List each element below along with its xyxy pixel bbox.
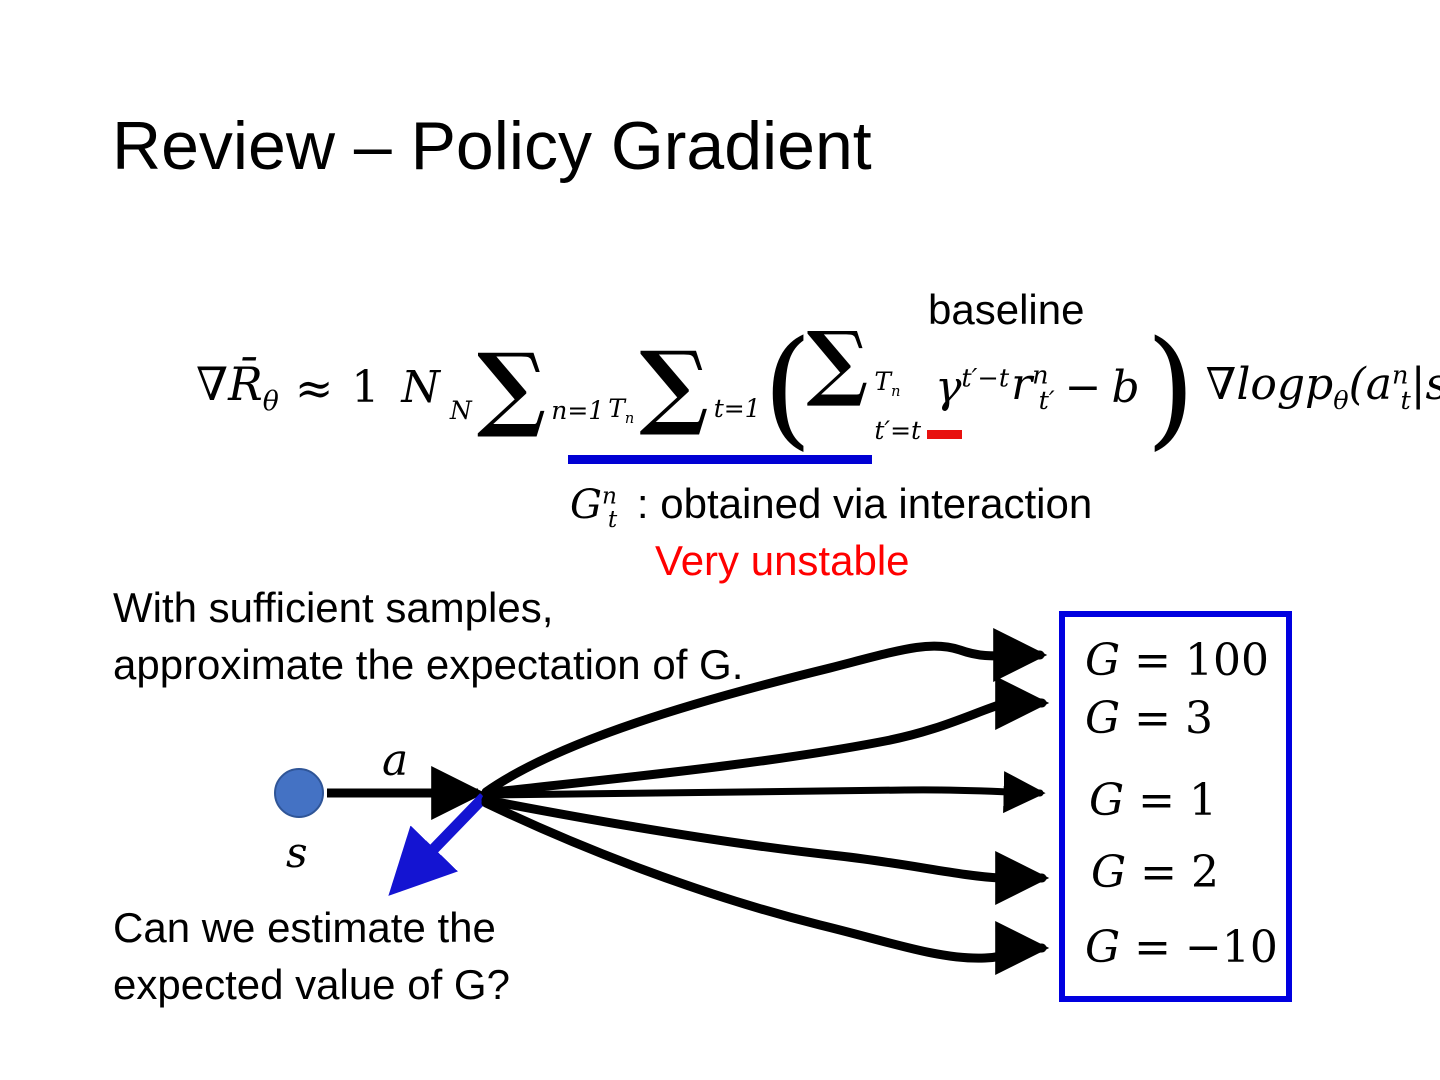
- baseline-annotation: baseline: [928, 286, 1084, 334]
- action-label: a: [382, 735, 408, 786]
- formula-lhs: ∇R̄θ: [196, 357, 279, 417]
- outcome-item: G = 2: [1091, 847, 1219, 898]
- approx-sign: ≈: [295, 361, 334, 415]
- policy-open: (a: [1349, 359, 1392, 410]
- return-blue-underline: [568, 455, 872, 464]
- fraction-denominator: N: [397, 360, 444, 413]
- estimate-question-line1: Can we estimate the: [113, 900, 510, 957]
- sample-arrow-4: [486, 800, 1042, 878]
- alternative-action-arrow: [396, 797, 484, 888]
- lhs-symbol: ∇R̄: [196, 357, 263, 411]
- outcome-value: 1: [1189, 775, 1217, 826]
- return-definition-note: Gnt : obtained via interaction: [570, 480, 1092, 533]
- fraction-numerator: 1: [347, 362, 383, 415]
- outcome-item: G = 100: [1085, 635, 1269, 686]
- outcome-value: 100: [1185, 635, 1269, 686]
- minus-sign: −: [1065, 362, 1102, 413]
- outcome-value: 2: [1191, 847, 1219, 898]
- sample-arrow-5: [486, 803, 1042, 958]
- sum-n-lower: n=1: [551, 396, 604, 425]
- given-state: |s: [1411, 359, 1440, 410]
- inner-sum-upper-main: T: [874, 367, 891, 396]
- grad-logp-symbol: ∇logp: [1206, 359, 1334, 410]
- sum-t-upper-sub: n: [625, 411, 634, 427]
- action-subscript: t: [1400, 386, 1410, 416]
- outcome-values-box: G = 100 G = 3 G = 1 G = 2 G = −10: [1059, 611, 1292, 1002]
- gamma-symbol: γ: [935, 362, 961, 413]
- g-subscript: t: [608, 506, 617, 533]
- inner-sum-limits: Tn t′=t: [873, 367, 921, 445]
- outcome-symbol: G: [1089, 775, 1124, 826]
- g-symbol: G: [570, 482, 602, 528]
- outcome-equals: =: [1134, 922, 1171, 973]
- reward-subscript: t′: [1039, 386, 1055, 416]
- outcome-equals: =: [1134, 635, 1171, 686]
- outcome-equals: =: [1138, 775, 1175, 826]
- sufficient-samples-line1: With sufficient samples,: [113, 580, 743, 637]
- discount-term: γt′−t: [935, 362, 1009, 413]
- inner-sum-over-tprime: ∑ Tn t′=t: [807, 330, 922, 445]
- outcome-item: G = −10: [1085, 922, 1278, 973]
- outcome-equals: =: [1134, 693, 1171, 744]
- outcome-value: 3: [1185, 693, 1213, 744]
- sigma-glyph: ∑: [639, 331, 708, 439]
- sum-t-upper: Tn: [608, 394, 634, 423]
- reward-term: rnt′: [1011, 359, 1055, 416]
- page-title: Review – Policy Gradient: [112, 112, 872, 180]
- sum-t-lower: t=1: [714, 394, 761, 423]
- grad-log-policy: ∇logpθ(ant|snt): [1206, 359, 1440, 416]
- sum-n-upper: N: [450, 396, 472, 425]
- sufficient-samples-text: With sufficient samples, approximate the…: [113, 580, 743, 693]
- sigma-glyph: ∑: [807, 314, 869, 410]
- sample-arrow-3: [486, 790, 1040, 795]
- return-definition-text: : obtained via interaction: [637, 480, 1092, 527]
- sum-over-n: N ∑ n=1: [450, 350, 604, 425]
- sample-arrow-2: [486, 700, 1042, 793]
- reward-symbol: r: [1011, 359, 1032, 410]
- lhs-subscript: θ: [263, 387, 279, 418]
- gamma-exponent: t′−t: [961, 363, 1009, 393]
- one-over-n-fraction: 1 N: [347, 366, 444, 410]
- policy-gradient-formula: ∇R̄θ ≈ 1 N N ∑ n=1 Tn ∑ t=1 ( ∑ Tn t′=t: [196, 330, 1440, 445]
- outcome-symbol: G: [1085, 922, 1120, 973]
- outcome-symbol: G: [1085, 693, 1120, 744]
- sum-t-upper-main: T: [608, 394, 625, 423]
- inner-sum-lower: t′=t: [874, 416, 921, 445]
- state-node-circle: [274, 768, 324, 818]
- return-symbol: Gnt: [570, 482, 617, 528]
- open-paren: (: [763, 343, 813, 435]
- sigma-glyph: ∑: [477, 333, 546, 441]
- close-paren: ): [1146, 343, 1196, 435]
- very-unstable-warning: Very unstable: [655, 537, 910, 585]
- estimate-question-line2: expected value of G?: [113, 957, 510, 1014]
- slide-canvas: Review – Policy Gradient ∇R̄θ ≈ 1 N N ∑ …: [0, 0, 1440, 1080]
- outcome-symbol: G: [1091, 847, 1126, 898]
- outcome-item: G = 1: [1089, 775, 1217, 826]
- outcome-symbol: G: [1085, 635, 1120, 686]
- sufficient-samples-line2: approximate the expectation of G.: [113, 637, 743, 694]
- inner-sum-upper-sub: n: [891, 384, 900, 400]
- grad-logp-subscript: θ: [1333, 386, 1348, 416]
- estimate-question-text: Can we estimate the expected value of G?: [113, 900, 510, 1013]
- outcome-equals: =: [1140, 847, 1177, 898]
- sum-over-t: Tn ∑ t=1: [608, 348, 760, 427]
- baseline-red-underline: [927, 430, 962, 439]
- outcome-value: −10: [1185, 922, 1278, 973]
- state-label: s: [286, 828, 308, 877]
- outcome-item: G = 3: [1085, 693, 1213, 744]
- baseline-symbol: b: [1112, 362, 1140, 413]
- inner-sum-upper: Tn: [874, 367, 900, 400]
